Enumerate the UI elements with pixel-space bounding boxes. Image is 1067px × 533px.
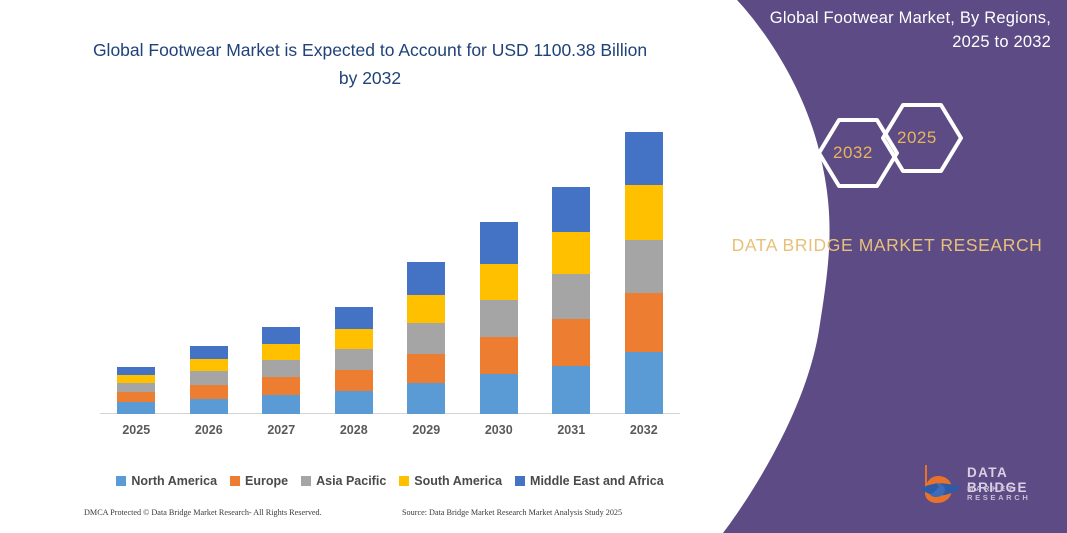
legend-label: North America: [131, 474, 217, 488]
hexagon-outlines: [805, 95, 975, 205]
legend-swatch-icon: [301, 476, 311, 486]
bar-segment: [625, 240, 663, 293]
bar-2031: [552, 187, 590, 414]
bar-segment: [552, 187, 590, 233]
bar-segment: [335, 391, 373, 414]
x-axis-label-2032: 2032: [614, 423, 674, 437]
x-axis-label-2029: 2029: [396, 423, 456, 437]
bar-segment: [407, 323, 445, 354]
bar-segment: [480, 374, 518, 414]
legend-swatch-icon: [515, 476, 525, 486]
legend-item[interactable]: Asia Pacific: [301, 474, 386, 488]
legend-item[interactable]: Europe: [230, 474, 288, 488]
bar-segment: [407, 354, 445, 383]
bar-segment: [480, 222, 518, 264]
infographic-canvas: Global Footwear Market is Expected to Ac…: [0, 0, 1067, 533]
bar-segment: [335, 329, 373, 349]
x-axis-labels: 20252026202720282029203020312032: [100, 423, 680, 445]
bar-segment: [262, 344, 300, 360]
hexagon-2032-label: 2032: [833, 143, 873, 163]
x-axis-label-2025: 2025: [106, 423, 166, 437]
hexagon-group: 2032 2025: [805, 95, 975, 205]
x-axis-label-2028: 2028: [324, 423, 384, 437]
bar-segment: [625, 293, 663, 352]
bar-segment: [407, 383, 445, 414]
bar-segment: [262, 395, 300, 414]
bar-2026: [190, 346, 228, 414]
legend-label: Europe: [245, 474, 288, 488]
legend-item[interactable]: North America: [116, 474, 217, 488]
bar-segment: [335, 370, 373, 391]
footer: DMCA Protected © Data Bridge Market Rese…: [84, 508, 684, 524]
legend-swatch-icon: [230, 476, 240, 486]
chart-legend: North AmericaEuropeAsia PacificSouth Ame…: [100, 471, 680, 491]
bar-segment: [480, 300, 518, 337]
legend-swatch-icon: [399, 476, 409, 486]
legend-label: Asia Pacific: [316, 474, 386, 488]
bar-2028: [335, 307, 373, 414]
footer-source: Source: Data Bridge Market Research Mark…: [402, 508, 622, 517]
bar-segment: [480, 264, 518, 300]
bar-segment: [190, 359, 228, 371]
bar-segment: [117, 402, 155, 414]
bar-segment: [117, 383, 155, 392]
bar-segment: [190, 385, 228, 399]
bar-2029: [407, 262, 445, 414]
x-axis-label-2030: 2030: [469, 423, 529, 437]
bar-segment: [625, 132, 663, 186]
bar-segment: [117, 375, 155, 383]
bar-2032: [625, 132, 663, 414]
bar-2027: [262, 327, 300, 414]
brand-panel: Global Footwear Market, By Regions, 2025…: [707, 0, 1067, 533]
bar-2030: [480, 222, 518, 414]
x-axis-label-2026: 2026: [179, 423, 239, 437]
panel-background-shape: [707, 0, 1067, 533]
bar-segment: [552, 319, 590, 365]
bar-2025: [117, 367, 155, 414]
data-bridge-logo: DATA BRIDGE MARKET RESEARCH: [919, 463, 1067, 507]
legend-label: Middle East and Africa: [530, 474, 664, 488]
footer-copyright: DMCA Protected © Data Bridge Market Rese…: [84, 508, 322, 517]
bar-segment: [190, 346, 228, 359]
bar-segment: [190, 399, 228, 414]
bar-segment: [407, 295, 445, 323]
bar-segment: [335, 307, 373, 329]
bar-segment: [190, 371, 228, 384]
bar-segment: [117, 367, 155, 375]
stacked-bar-chart: [100, 120, 680, 414]
page-title: Global Footwear Market is Expected to Ac…: [90, 36, 650, 92]
bar-segment: [625, 185, 663, 239]
bar-segment: [552, 366, 590, 415]
bar-segment: [262, 360, 300, 377]
bar-segment: [117, 392, 155, 402]
bar-segment: [480, 337, 518, 374]
legend-item[interactable]: South America: [399, 474, 502, 488]
bar-segment: [552, 274, 590, 319]
panel-title: Global Footwear Market, By Regions, 2025…: [729, 6, 1051, 54]
x-axis-label-2031: 2031: [541, 423, 601, 437]
logo-mark-icon: [919, 463, 963, 505]
bar-segment: [262, 377, 300, 395]
legend-item[interactable]: Middle East and Africa: [515, 474, 664, 488]
x-axis-label-2027: 2027: [251, 423, 311, 437]
legend-label: South America: [414, 474, 502, 488]
hexagon-2025-label: 2025: [897, 128, 937, 148]
brand-name: DATA BRIDGE MARKET RESEARCH: [727, 232, 1047, 258]
bar-segment: [625, 352, 663, 414]
bar-segment: [552, 232, 590, 274]
bar-segment: [335, 349, 373, 370]
legend-swatch-icon: [116, 476, 126, 486]
logo-text-secondary: MARKET RESEARCH: [967, 484, 1067, 502]
bar-segment: [407, 262, 445, 295]
bar-segment: [262, 327, 300, 344]
